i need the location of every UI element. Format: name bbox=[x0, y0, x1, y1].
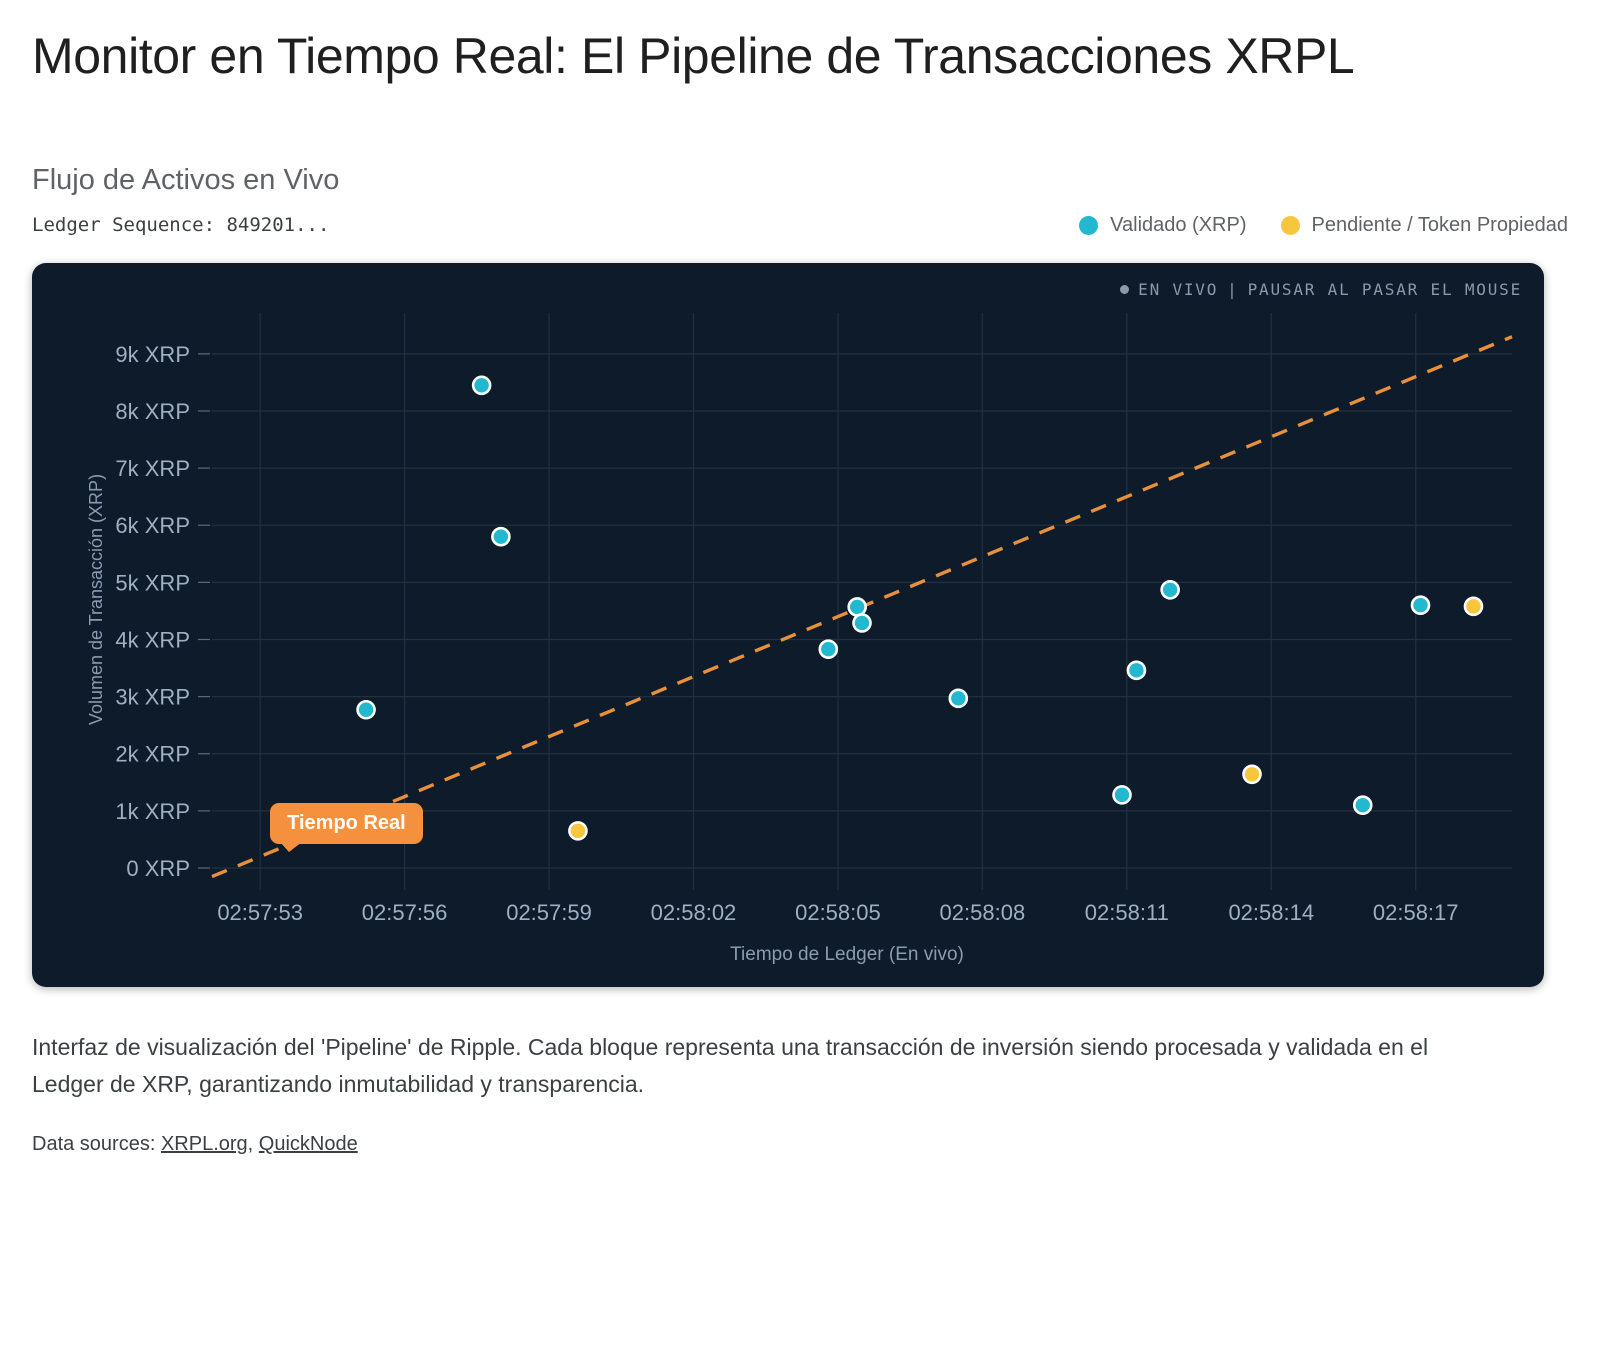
data-point[interactable] bbox=[854, 614, 871, 631]
y-axis-tick-label: 8k XRP bbox=[115, 399, 190, 424]
data-point[interactable] bbox=[1412, 597, 1429, 614]
data-point[interactable] bbox=[849, 598, 866, 615]
chart-meta-row: Ledger Sequence: 849201... Validado (XRP… bbox=[32, 214, 1568, 237]
source-link-xrpl[interactable]: XRPL.org bbox=[161, 1133, 248, 1155]
x-axis-tick-label: 02:58:05 bbox=[795, 900, 881, 925]
y-axis-tick-label: 2k XRP bbox=[115, 742, 190, 767]
data-point[interactable] bbox=[1162, 581, 1179, 598]
circle-icon bbox=[1079, 216, 1098, 235]
y-axis-tick-label: 7k XRP bbox=[115, 456, 190, 481]
legend-label: Pendiente / Token Propiedad bbox=[1312, 214, 1569, 237]
data-point[interactable] bbox=[473, 377, 490, 394]
circle-icon bbox=[1281, 216, 1300, 235]
x-axis-tick-label: 02:58:02 bbox=[651, 900, 737, 925]
y-axis-tick-label: 6k XRP bbox=[115, 513, 190, 538]
y-axis-title: Volumen de Transacción (XRP) bbox=[86, 474, 106, 725]
y-axis-tick-label: 1k XRP bbox=[115, 799, 190, 824]
page-root: Monitor en Tiempo Real: El Pipeline de T… bbox=[0, 0, 1600, 1354]
x-axis-tick-label: 02:58:14 bbox=[1228, 900, 1314, 925]
data-point[interactable] bbox=[1244, 766, 1261, 783]
y-axis-tick-label: 3k XRP bbox=[115, 684, 190, 709]
data-sources: Data sources: XRPL.org, QuickNode bbox=[32, 1133, 1568, 1156]
data-point[interactable] bbox=[358, 701, 375, 718]
y-axis-tick-label: 9k XRP bbox=[115, 342, 190, 367]
data-point[interactable] bbox=[492, 528, 509, 545]
x-axis-title: Tiempo de Ledger (En vivo) bbox=[730, 944, 964, 965]
data-point[interactable] bbox=[1128, 662, 1145, 679]
x-axis-tick-label: 02:57:56 bbox=[362, 900, 448, 925]
y-axis-tick-label: 0 XRP bbox=[126, 856, 190, 881]
data-point[interactable] bbox=[820, 640, 837, 657]
y-axis-title-group: Volumen de Transacción (XRP) bbox=[86, 474, 106, 725]
x-axis-tick-label: 02:58:17 bbox=[1373, 900, 1459, 925]
data-point[interactable] bbox=[950, 690, 967, 707]
x-axis-tick-label: 02:58:11 bbox=[1085, 900, 1169, 925]
chart-legend: Validado (XRP) Pendiente / Token Propied… bbox=[1079, 214, 1568, 237]
sources-separator: , bbox=[248, 1133, 259, 1155]
data-point[interactable] bbox=[569, 822, 586, 839]
section-title: Flujo de Activos en Vivo bbox=[32, 87, 1568, 198]
legend-item-validado[interactable]: Validado (XRP) bbox=[1079, 214, 1246, 237]
data-point[interactable] bbox=[1465, 598, 1482, 615]
legend-item-pendiente[interactable]: Pendiente / Token Propiedad bbox=[1281, 214, 1569, 237]
x-axis-tick-label: 02:57:53 bbox=[217, 900, 303, 925]
source-link-quicknode[interactable]: QuickNode bbox=[259, 1133, 358, 1155]
chart-caption: Interfaz de visualización del 'Pipeline'… bbox=[32, 1029, 1472, 1104]
data-sources-prefix: Data sources: bbox=[32, 1133, 161, 1155]
y-axis-tick-label: 5k XRP bbox=[115, 570, 190, 595]
ledger-sequence: Ledger Sequence: 849201... bbox=[32, 214, 329, 236]
data-point[interactable] bbox=[1354, 796, 1371, 813]
chart-panel[interactable]: EN VIVO | PAUSAR AL PASAR EL MOUSE 0 XRP… bbox=[32, 263, 1544, 987]
y-axis-tick-label: 4k XRP bbox=[115, 627, 190, 652]
data-point[interactable] bbox=[1114, 786, 1131, 803]
scatter-plot[interactable]: 0 XRP1k XRP2k XRP3k XRP4k XRP5k XRP6k XR… bbox=[32, 263, 1544, 987]
page-title: Monitor en Tiempo Real: El Pipeline de T… bbox=[32, 0, 1482, 87]
x-axis-tick-label: 02:57:59 bbox=[506, 900, 592, 925]
x-axis-tick-label: 02:58:08 bbox=[940, 900, 1026, 925]
legend-label: Validado (XRP) bbox=[1110, 214, 1246, 237]
realtime-badge: Tiempo Real bbox=[270, 803, 423, 844]
